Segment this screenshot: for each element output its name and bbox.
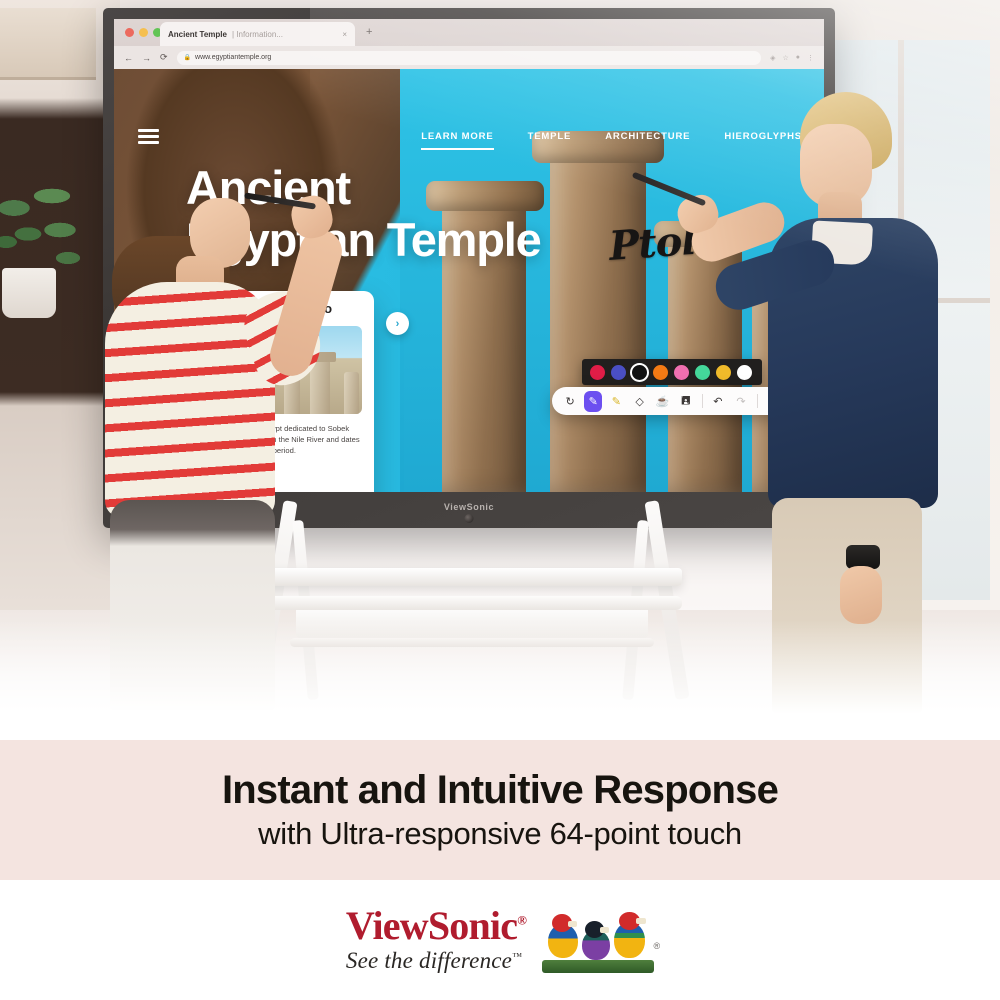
stand-crossbar-lower [290,638,654,647]
browser-tabstrip: Ancient Temple | Information... × + [114,19,824,46]
gouldian-finches-mark: ® [542,907,654,973]
carousel-next-button[interactable]: › [386,312,409,335]
wall-shelf [0,8,96,80]
address-bar[interactable]: 🔒 www.egyptiantemple.org [177,51,762,65]
man-resting-hand [840,566,882,624]
browser-toolbar-icons[interactable]: ◈ ☆ ● ⋮ [770,54,814,62]
browser-chrome: Ancient Temple | Information... × + ← → … [114,19,824,69]
finch-registered-mark: ® [653,941,660,951]
viewsonic-logo: ViewSonic® See the difference™ [346,906,526,974]
stand-top-bar [252,568,682,586]
back-icon[interactable]: ← [124,53,133,63]
nav-item-architecture[interactable]: ARCHITECTURE [605,131,690,148]
star-icon[interactable]: ☆ [782,54,788,62]
brand-name: ViewSonic® [346,906,526,946]
product-marketing-image: Ancient Temple | Information... × + ← → … [0,0,1000,1000]
toolbar-divider [757,394,758,408]
save-icon[interactable]: 🖪 [677,391,695,412]
tab-title: Ancient Temple [168,30,227,39]
browser-omnibar: ← → ⟳ 🔒 www.egyptiantemple.org ◈ ☆ ● [114,46,824,69]
hamburger-line [138,129,159,132]
color-swatch-black[interactable] [632,365,647,380]
ruin-pillar [344,372,359,414]
color-swatch-white[interactable] [737,365,752,380]
finch-beak [600,927,609,933]
bezel-brand-label: ViewSonic [444,502,494,512]
lock-icon: 🔒 [184,54,191,61]
profile-icon[interactable]: ● [796,54,800,61]
brand-name-text: ViewSonic [346,903,517,948]
hamburger-line [138,141,159,144]
tab-close-icon[interactable]: × [342,30,347,39]
eraser-icon[interactable]: ◇ [630,391,648,412]
color-swatch-pink[interactable] [674,365,689,380]
reload-icon[interactable]: ⟳ [160,52,168,63]
color-swatch-crimson[interactable] [590,365,605,380]
url-text: www.egyptiantemple.org [195,54,271,61]
brand-tagline: See the difference™ [346,948,526,974]
site-navigation: LEARN MORE TEMPLE ARCHITECTURE HIEROGLYP… [421,131,802,150]
new-tab-icon[interactable]: + [366,26,372,38]
logo-band: ViewSonic® See the difference™ [0,880,1000,1000]
hamburger-menu-icon[interactable] [138,129,159,144]
tab-subtitle: | Information... [232,30,283,39]
finch-right [612,912,648,962]
color-swatch-gold[interactable] [716,365,731,380]
brand-tagline-text: See the difference [346,948,512,973]
nav-item-learn-more[interactable]: LEARN MORE [421,131,493,150]
finch-middle [580,918,612,962]
nav-item-temple[interactable]: TEMPLE [528,131,572,148]
forward-icon[interactable]: → [142,53,151,63]
color-swatch-mint[interactable] [695,365,710,380]
caption-band: Instant and Intuitive Response with Ultr… [0,740,1000,880]
woman-trousers [110,500,275,710]
pen-icon[interactable]: ✎ [584,391,602,412]
redo-icon: ↷ [732,391,750,412]
plant-pot [2,268,56,318]
hamburger-line [138,135,159,138]
registered-mark: ® [517,913,526,928]
annotation-color-palette[interactable] [582,359,762,385]
trash-icon[interactable]: ☕ [654,391,672,412]
finch-left [546,914,580,962]
toolbar-divider [702,394,703,408]
highlighter-icon[interactable]: ✎ [607,391,625,412]
trademark-mark: ™ [512,951,522,962]
caption-headline: Instant and Intuitive Response [222,768,778,813]
finch-beak [636,918,646,924]
stand-crossbar [262,596,682,610]
nav-item-hieroglyphs[interactable]: HIEROGLYPHS [724,131,802,148]
extensions-icon[interactable]: ◈ [770,54,775,62]
gesture-icon[interactable]: ↻ [561,391,579,412]
finch-beak [568,921,577,927]
color-swatch-orange[interactable] [653,365,668,380]
window-controls[interactable] [125,28,162,37]
room-left-wall [0,0,120,700]
annotation-toolbar[interactable]: ↻ ✎ ✎ ◇ ☕ 🖪 ↶ ↷ ✕ [552,387,796,415]
color-swatch-indigo[interactable] [611,365,626,380]
photo-scene: Ancient Temple | Information... × + ← → … [0,0,1000,740]
close-window-button[interactable] [125,28,134,37]
ir-sensor [465,514,474,523]
undo-icon[interactable]: ↶ [709,391,727,412]
potted-plant [0,182,86,278]
browser-tab[interactable]: Ancient Temple | Information... × [160,22,355,46]
minimize-window-button[interactable] [139,28,148,37]
caption-subhead: with Ultra-responsive 64-point touch [258,816,742,852]
browser-menu-icon[interactable]: ⋮ [807,54,814,62]
